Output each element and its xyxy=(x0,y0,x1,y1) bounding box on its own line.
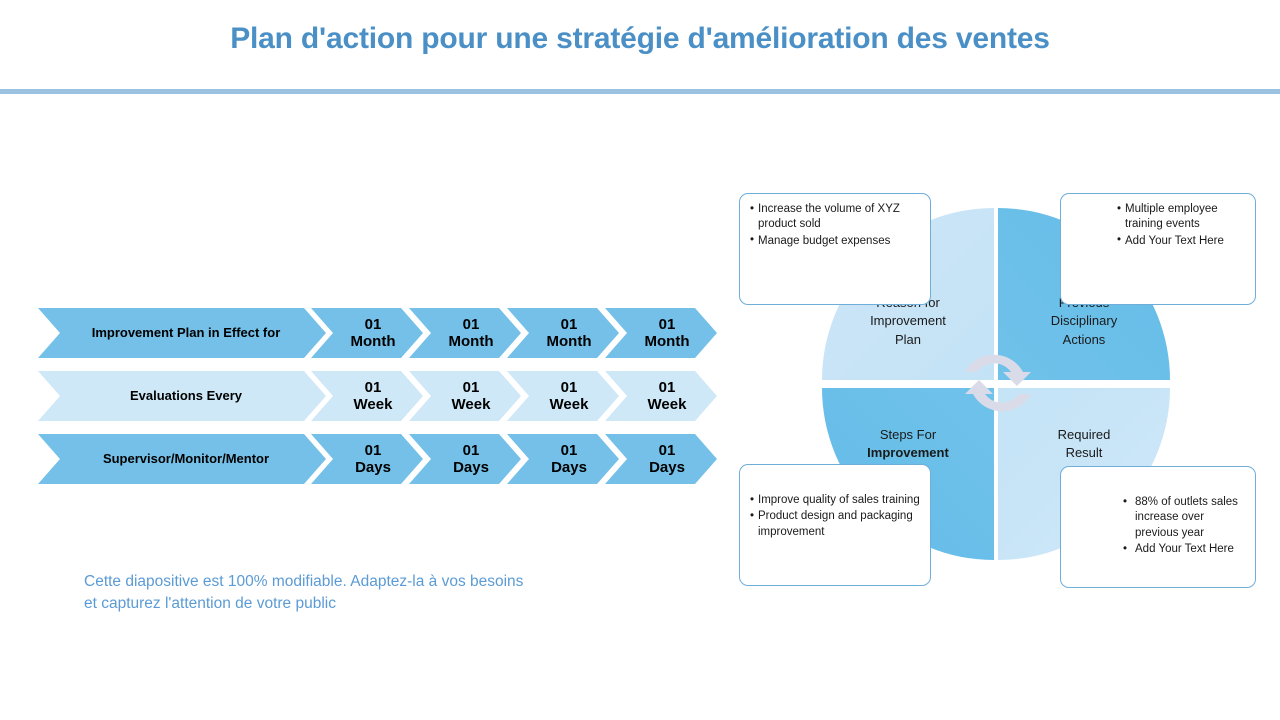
callout-list: Multiple employee training events Add Yo… xyxy=(1117,202,1245,249)
callout-reason-for-improvement-plan[interactable]: Increase the volume of XYZ product sold … xyxy=(739,193,931,305)
quadrant-label: Steps ForImprovement xyxy=(822,426,994,463)
chevron-step[interactable]: 01 Week xyxy=(605,371,717,421)
callout-required-result[interactable]: 88% of outlets sales increase over previ… xyxy=(1060,466,1256,588)
chevron-step[interactable]: 01 Month xyxy=(605,308,717,358)
chevron-step-text: 01 Days xyxy=(535,442,591,477)
callout-item: Add Your Text Here xyxy=(1117,234,1245,249)
process-row-supervisor: Supervisor/Monitor/Mentor 01 Days 01 Day… xyxy=(38,434,718,484)
callout-item: Increase the volume of XYZ product sold xyxy=(750,202,920,233)
chevron-step[interactable]: 01 Week xyxy=(311,371,423,421)
chevron-step[interactable]: 01 Days xyxy=(409,434,521,484)
chevron-step[interactable]: 01 Month xyxy=(409,308,521,358)
callout-list: Improve quality of sales training Produc… xyxy=(750,493,920,540)
chevron-step[interactable]: 01 Month xyxy=(311,308,423,358)
callout-item: Add Your Text Here xyxy=(1123,542,1245,557)
chevron-step[interactable]: 01 Week xyxy=(507,371,619,421)
slide-caption: Cette diapositive est 100% modifiable. A… xyxy=(84,571,524,615)
chevron-row-label[interactable]: Evaluations Every xyxy=(38,371,326,421)
chevron-label-text: Supervisor/Monitor/Mentor xyxy=(81,451,283,467)
chevron-row-label[interactable]: Improvement Plan in Effect for xyxy=(38,308,326,358)
chevron-label-text: Improvement Plan in Effect for xyxy=(70,325,295,341)
callout-item: 88% of outlets sales increase over previ… xyxy=(1123,495,1245,541)
callout-list: Increase the volume of XYZ product sold … xyxy=(750,202,920,249)
callout-list: 88% of outlets sales increase over previ… xyxy=(1123,495,1245,558)
chevron-step[interactable]: 01 Days xyxy=(605,434,717,484)
process-row-evaluations: Evaluations Every 01 Week 01 Week 01 Wee… xyxy=(38,371,718,421)
title-divider xyxy=(0,89,1280,94)
callout-previous-disciplinary-actions[interactable]: Multiple employee training events Add Yo… xyxy=(1060,193,1256,305)
chevron-step-text: 01 Month xyxy=(531,316,596,351)
chevron-step-text: 01 Month xyxy=(335,316,400,351)
chevron-row-label[interactable]: Supervisor/Monitor/Mentor xyxy=(38,434,326,484)
quadrant-label-line1: Steps For xyxy=(880,427,936,442)
chevron-step-text: 01 Week xyxy=(338,379,397,414)
callout-item: Product design and packaging improvement xyxy=(750,509,920,540)
callout-item: Multiple employee training events xyxy=(1117,202,1245,233)
chevron-step-text: 01 Days xyxy=(437,442,493,477)
process-chevron-diagram: Improvement Plan in Effect for 01 Month … xyxy=(38,308,718,488)
improvement-cycle-diagram: Reason for Improvement Plan Previous Dis… xyxy=(735,188,1260,593)
chevron-label-text: Evaluations Every xyxy=(108,388,256,404)
chevron-step-text: 01 Month xyxy=(629,316,694,351)
chevron-step-text: 01 Week xyxy=(632,379,691,414)
quadrant-label: Required Result xyxy=(998,426,1170,463)
chevron-step[interactable]: 01 Days xyxy=(311,434,423,484)
quadrant-label-line2: Improvement xyxy=(867,445,949,460)
chevron-step-text: 01 Days xyxy=(633,442,689,477)
chevron-step-text: 01 Week xyxy=(534,379,593,414)
page-title: Plan d'action pour une stratégie d'améli… xyxy=(0,22,1280,56)
chevron-step-text: 01 Days xyxy=(339,442,395,477)
chevron-step[interactable]: 01 Month xyxy=(507,308,619,358)
process-row-improvement-plan: Improvement Plan in Effect for 01 Month … xyxy=(38,308,718,358)
callout-item: Improve quality of sales training xyxy=(750,493,920,508)
chevron-step-text: 01 Week xyxy=(436,379,495,414)
callout-steps-for-improvement[interactable]: Improve quality of sales training Produc… xyxy=(739,464,931,586)
callout-item: Manage budget expenses xyxy=(750,234,920,249)
chevron-step[interactable]: 01 Week xyxy=(409,371,521,421)
chevron-step[interactable]: 01 Days xyxy=(507,434,619,484)
chevron-step-text: 01 Month xyxy=(433,316,498,351)
